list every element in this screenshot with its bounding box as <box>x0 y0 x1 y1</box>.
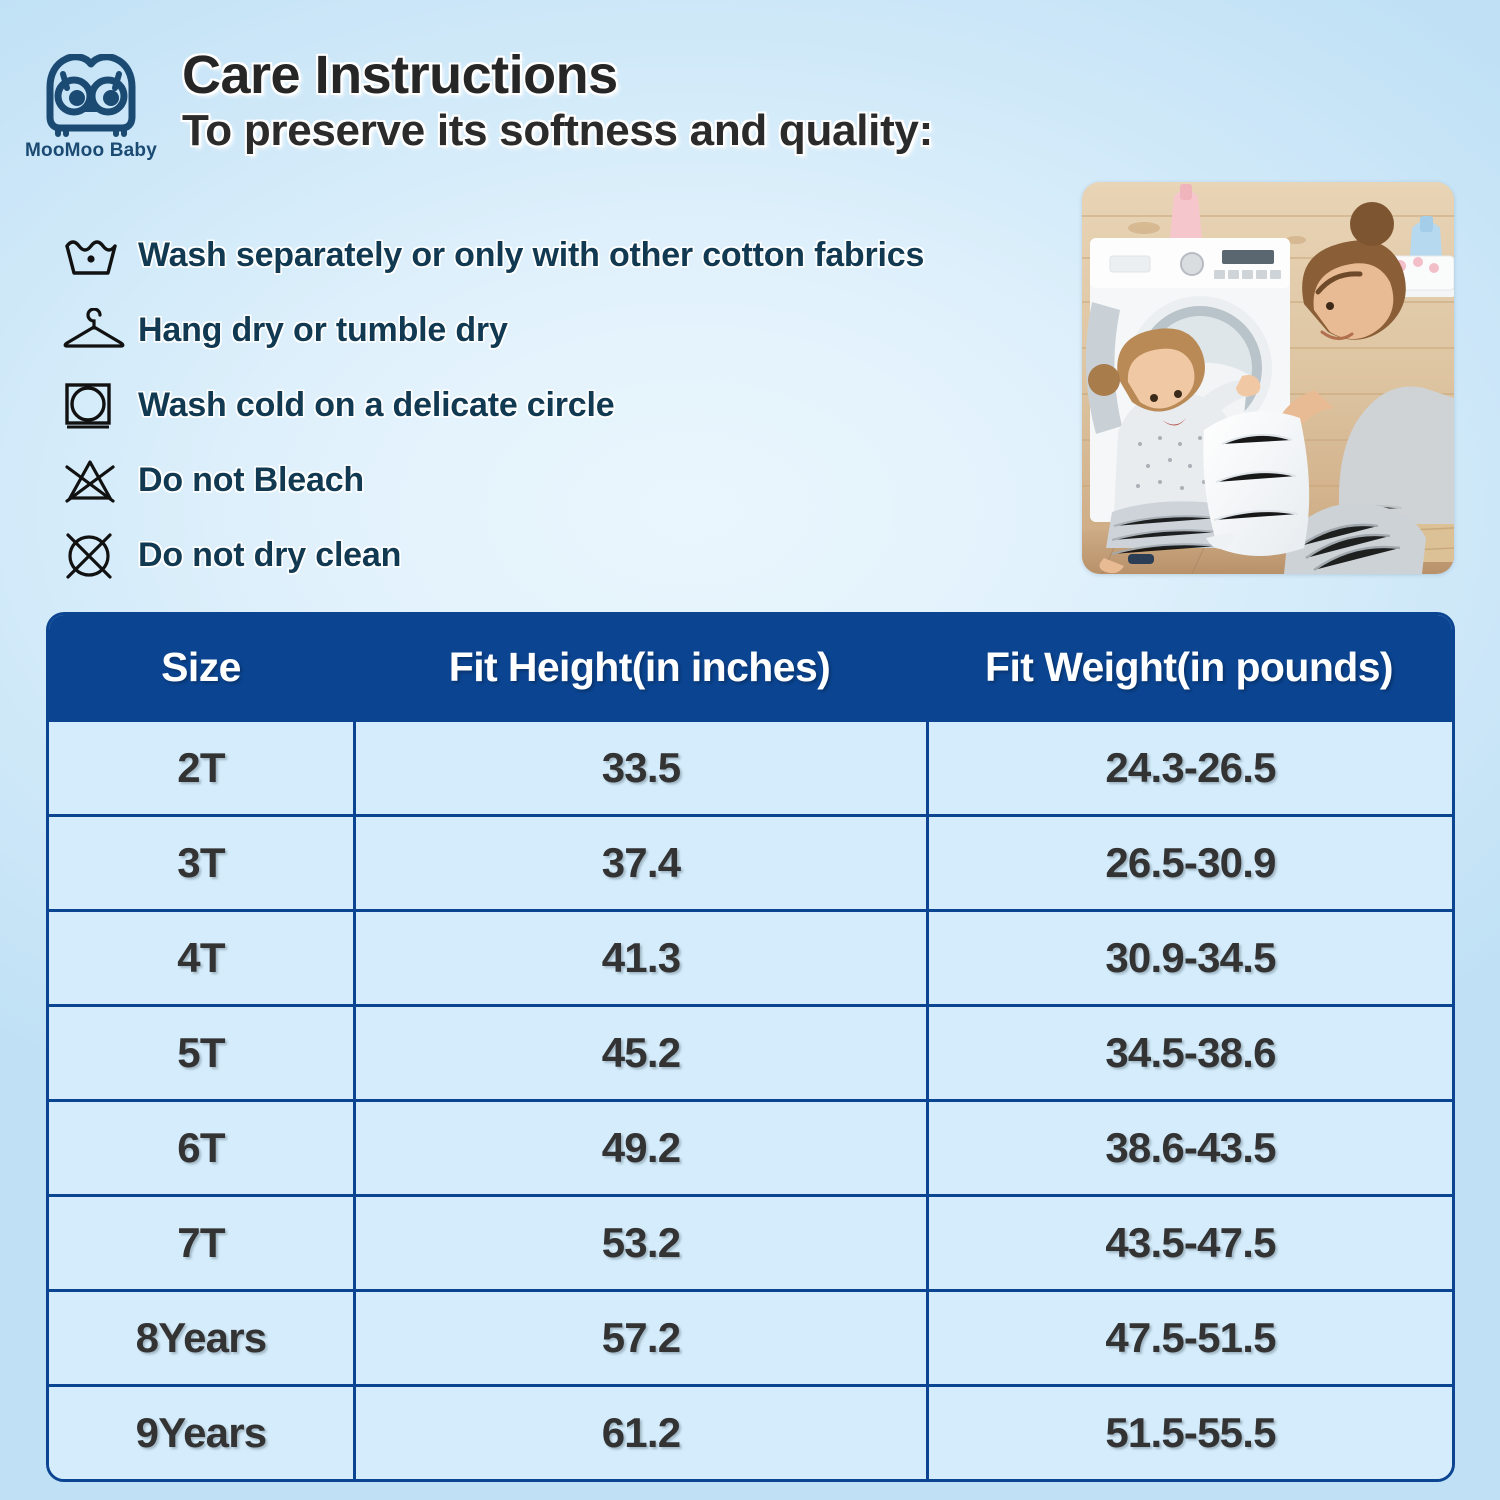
cell-weight: 51.5-55.5 <box>926 1387 1452 1479</box>
cell-height: 41.3 <box>353 912 926 1004</box>
care-item: Wash cold on a delicate circle <box>62 368 1072 443</box>
cell-weight: 30.9-34.5 <box>926 912 1452 1004</box>
cell-size: 4T <box>49 912 353 1004</box>
cell-height: 33.5 <box>353 722 926 814</box>
cell-height: 49.2 <box>353 1102 926 1194</box>
care-item-label: Do not Bleach <box>138 461 364 500</box>
table-row: 8Years 57.2 47.5-51.5 <box>49 1289 1452 1384</box>
page-subtitle: To preserve its softness and quality: <box>182 106 933 157</box>
page-title: Care Instructions <box>182 48 933 102</box>
care-item: Hang dry or tumble dry <box>62 293 1072 368</box>
column-header-height: Fit Height(in inches) <box>353 615 926 719</box>
cell-size: 3T <box>49 817 353 909</box>
cell-height: 45.2 <box>353 1007 926 1099</box>
table-row: 9Years 61.2 51.5-55.5 <box>49 1384 1452 1479</box>
care-item: Do not dry clean <box>62 518 1072 593</box>
cell-weight: 43.5-47.5 <box>926 1197 1452 1289</box>
tumble-dry-icon <box>62 381 138 431</box>
cell-weight: 47.5-51.5 <box>926 1292 1452 1384</box>
cell-size: 7T <box>49 1197 353 1289</box>
cell-size: 6T <box>49 1102 353 1194</box>
table-header-row: Size Fit Height(in inches) Fit Weight(in… <box>49 615 1452 719</box>
table-row: 5T 45.2 34.5-38.6 <box>49 1004 1452 1099</box>
size-chart-table: Size Fit Height(in inches) Fit Weight(in… <box>46 612 1455 1482</box>
owl-logo-icon <box>36 54 146 138</box>
care-item-label: Hang dry or tumble dry <box>138 311 508 350</box>
column-header-weight: Fit Weight(in pounds) <box>926 615 1452 719</box>
brand-name: MooMoo Baby <box>25 140 157 162</box>
care-item-label: Wash cold on a delicate circle <box>138 386 614 425</box>
care-instructions-page: MooMoo Baby Care Instructions To preserv… <box>0 0 1500 1500</box>
cell-weight: 26.5-30.9 <box>926 817 1452 909</box>
title-block: Care Instructions To preserve its softne… <box>158 48 933 157</box>
do-not-dry-clean-icon <box>62 530 138 582</box>
cell-size: 5T <box>49 1007 353 1099</box>
care-instruction-list: Wash separately or only with other cotto… <box>62 218 1072 593</box>
cell-height: 61.2 <box>353 1387 926 1479</box>
laundry-photo-illustration <box>1082 182 1454 574</box>
cell-weight: 38.6-43.5 <box>926 1102 1452 1194</box>
cell-weight: 34.5-38.6 <box>926 1007 1452 1099</box>
page-header: MooMoo Baby Care Instructions To preserv… <box>24 48 1084 178</box>
laundry-photo <box>1082 182 1454 574</box>
cell-size: 8Years <box>49 1292 353 1384</box>
cell-height: 53.2 <box>353 1197 926 1289</box>
brand-logo: MooMoo Baby <box>24 48 158 162</box>
hanger-icon <box>62 308 138 354</box>
table-row: 6T 49.2 38.6-43.5 <box>49 1099 1452 1194</box>
cell-size: 9Years <box>49 1387 353 1479</box>
table-row: 3T 37.4 26.5-30.9 <box>49 814 1452 909</box>
cell-height: 37.4 <box>353 817 926 909</box>
care-item-label: Do not dry clean <box>138 536 401 575</box>
do-not-bleach-icon <box>62 456 138 506</box>
care-item-label: Wash separately or only with other cotto… <box>138 236 924 275</box>
column-header-size: Size <box>49 615 353 719</box>
cell-weight: 24.3-26.5 <box>926 722 1452 814</box>
care-item: Wash separately or only with other cotto… <box>62 218 1072 293</box>
cell-height: 57.2 <box>353 1292 926 1384</box>
cell-size: 2T <box>49 722 353 814</box>
wash-tub-icon <box>62 233 138 279</box>
table-row: 2T 33.5 24.3-26.5 <box>49 719 1452 814</box>
table-row: 7T 53.2 43.5-47.5 <box>49 1194 1452 1289</box>
table-row: 4T 41.3 30.9-34.5 <box>49 909 1452 1004</box>
care-item: Do not Bleach <box>62 443 1072 518</box>
